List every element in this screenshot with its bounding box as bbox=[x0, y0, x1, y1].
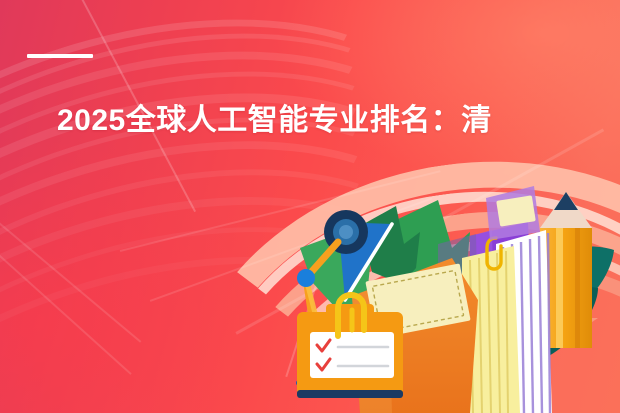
title-divider bbox=[27, 54, 93, 58]
clipboard-shadow bbox=[297, 390, 403, 398]
page-title: 2025全球人工智能专业排名：清 bbox=[57, 103, 492, 139]
small-card bbox=[486, 186, 540, 240]
lamp-joint bbox=[297, 269, 315, 287]
pencil-tip bbox=[554, 192, 578, 210]
desk-scene-illustration bbox=[0, 0, 620, 413]
cover-canvas: 2025全球人工智能专业排名：清 bbox=[0, 0, 620, 413]
